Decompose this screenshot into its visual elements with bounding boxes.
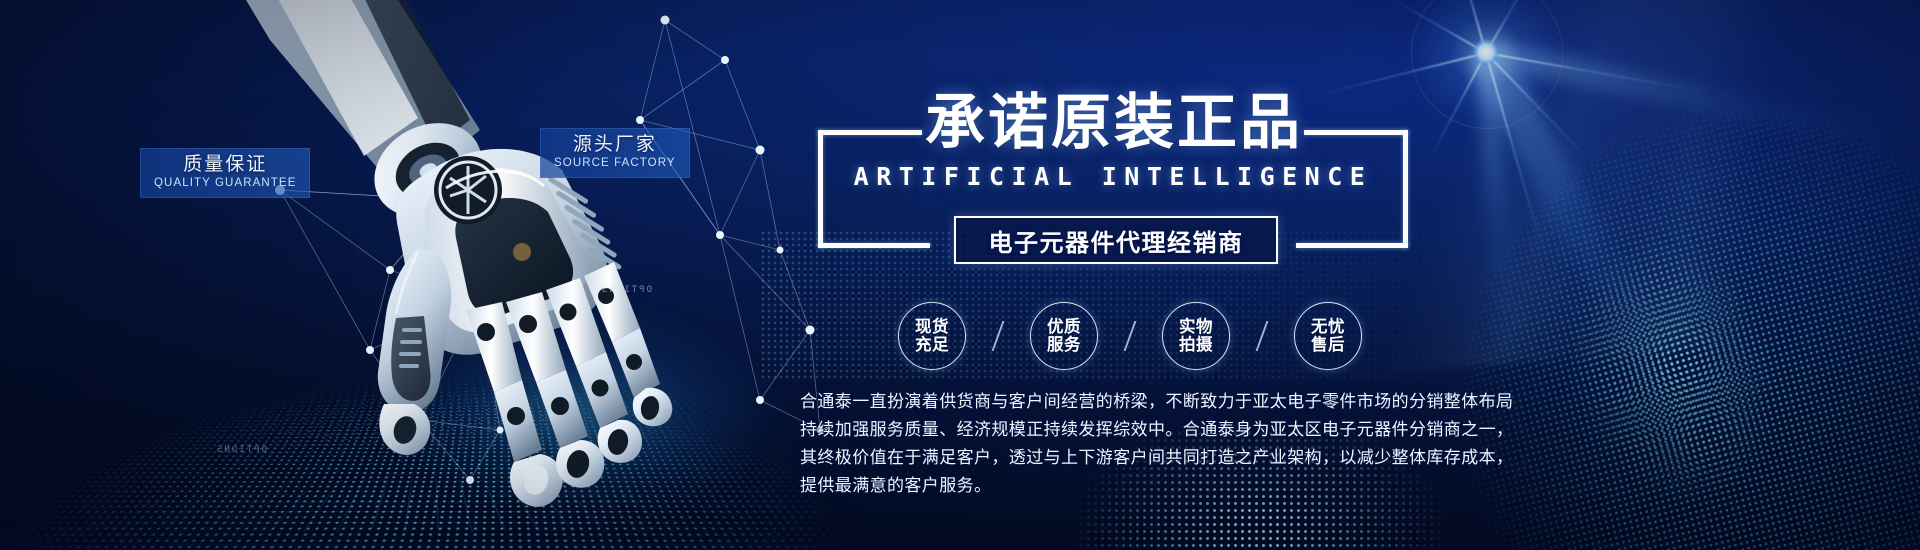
tag-source-cn: 源头厂家 bbox=[554, 134, 676, 156]
description-line-3: 其终极价值在于满足客户，透过与上下游客户间共同打造之产业架构，以减少整体库存成本… bbox=[800, 444, 1640, 472]
description-paragraph: 合通泰一直扮演着供货商与客户间经营的桥梁，不断致力于亚太电子零件市场的分销整体布… bbox=[800, 388, 1640, 500]
badge-quality-service: 优质 服务 bbox=[1030, 302, 1098, 370]
tag-source-factory: 源头厂家 SOURCE FACTORY bbox=[540, 128, 690, 178]
subtitle-text: 电子元器件代理经销商 bbox=[989, 223, 1244, 258]
tag-quality-guarantee: 质量保证 QUALITY GUARANTEE bbox=[140, 148, 310, 198]
promo-banner: OPTIONS OPTIONS 质量保证 QUALITY GUARANTEE 源… bbox=[0, 0, 1920, 550]
badge-1-line-2: 充足 bbox=[915, 336, 949, 354]
badge-1-line-1: 现货 bbox=[915, 318, 949, 336]
badge-3-line-1: 实物 bbox=[1179, 318, 1213, 336]
subtitle-box: 电子元器件代理经销商 bbox=[954, 216, 1278, 264]
badge-3-line-2: 拍摄 bbox=[1179, 336, 1213, 354]
description-line-2: 持续加强服务质量、经济规模正持续发挥综效中。合通泰身为亚太区电子元器件分销商之一… bbox=[800, 416, 1640, 444]
headline-title-cn: 承诺原装正品 bbox=[910, 74, 1318, 161]
badge-real-photo: 实物 拍摄 bbox=[1162, 302, 1230, 370]
tag-quality-cn: 质量保证 bbox=[154, 154, 296, 176]
tag-source-en: SOURCE FACTORY bbox=[554, 157, 676, 171]
bracket-top-right-horizontal bbox=[1304, 130, 1408, 135]
badge-stock-sufficient: 现货 充足 bbox=[898, 302, 966, 370]
description-line-4: 提供最满意的客户服务。 bbox=[800, 472, 1640, 500]
badge-4-line-2: 售后 bbox=[1311, 336, 1345, 354]
badge-4-line-1: 无忧 bbox=[1311, 318, 1345, 336]
tag-quality-en: QUALITY GUARANTEE bbox=[154, 177, 296, 191]
badge-separator-3 bbox=[1256, 321, 1269, 351]
bracket-bottom-left-horizontal bbox=[818, 243, 930, 248]
bracket-bottom-right-horizontal bbox=[1296, 243, 1408, 248]
badge-separator-1 bbox=[992, 321, 1005, 351]
bracket-top-left-horizontal bbox=[818, 130, 922, 135]
headline-title-en: ARTIFICIAL INTELLIGENCE bbox=[818, 162, 1408, 191]
description-line-1: 合通泰一直扮演着供货商与客户间经营的桥梁，不断致力于亚太电子零件市场的分销整体布… bbox=[800, 388, 1640, 416]
badge-2-line-2: 服务 bbox=[1047, 336, 1081, 354]
badge-worry-free-aftersales: 无忧 售后 bbox=[1294, 302, 1362, 370]
badge-separator-2 bbox=[1124, 321, 1137, 351]
headline-block: 承诺原装正品 ARTIFICIAL INTELLIGENCE 电子元器件代理经销… bbox=[818, 88, 1408, 248]
feature-badge-row: 现货 充足 优质 服务 实物 拍摄 无忧 售后 bbox=[898, 302, 1362, 370]
badge-2-line-1: 优质 bbox=[1047, 318, 1081, 336]
